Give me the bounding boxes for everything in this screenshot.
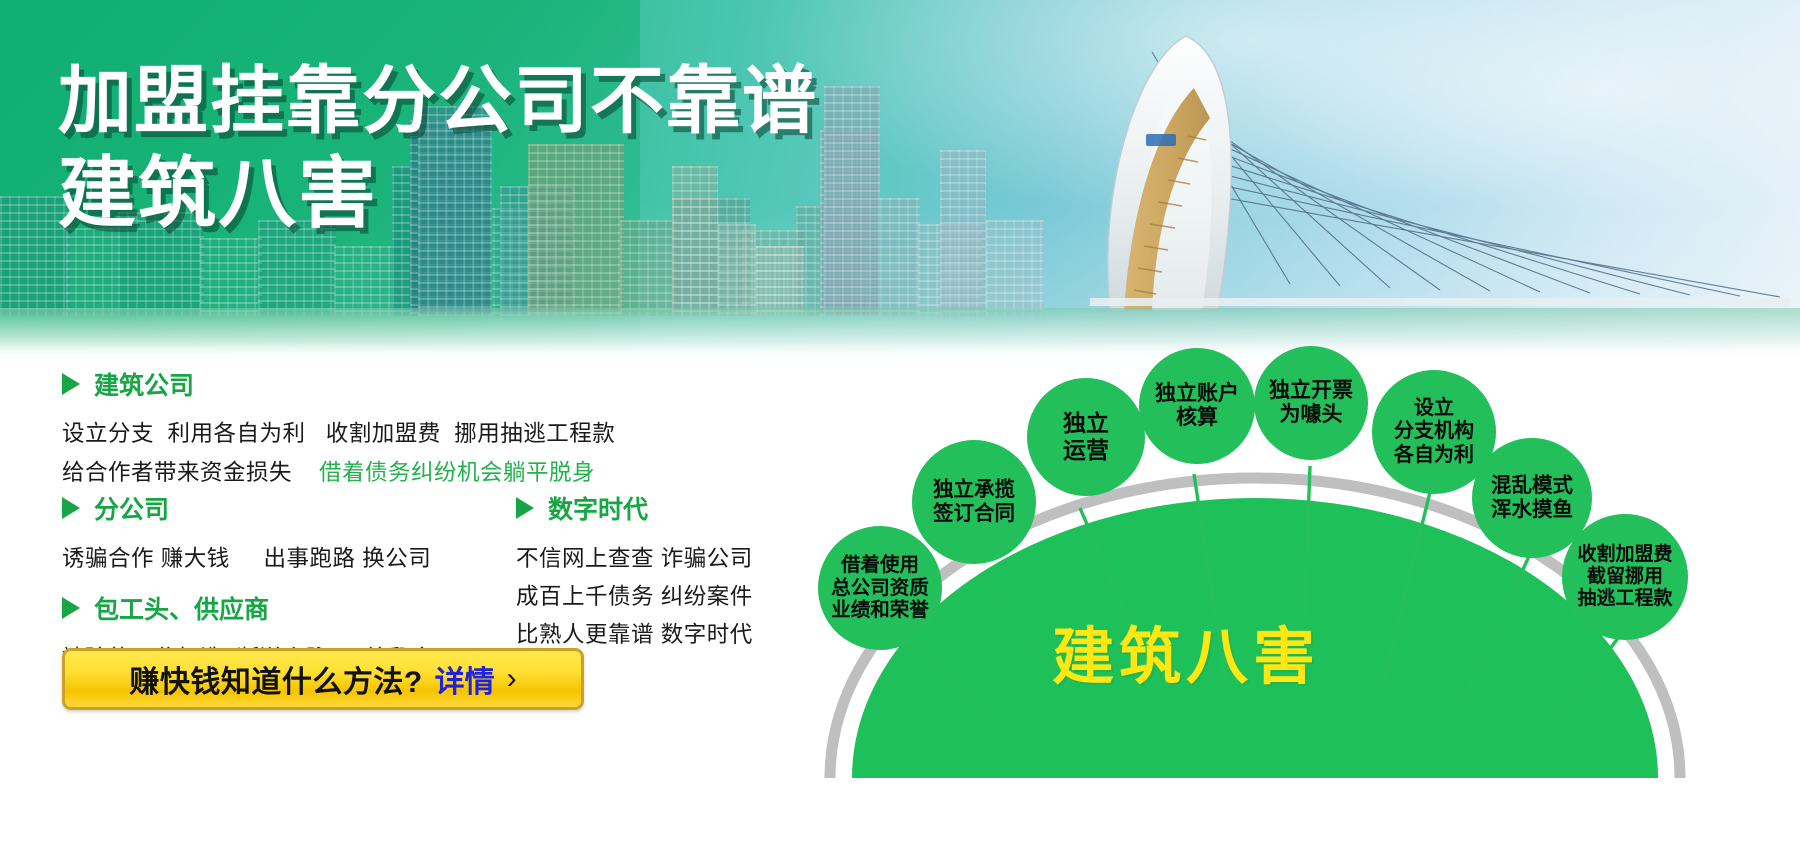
cta-button[interactable]: 赚快钱知道什么方法? 详情 ›	[62, 648, 584, 710]
bubble-item[interactable]: 收割加盟费 截留挪用 抽逃工程款	[1562, 514, 1688, 640]
body-text-black: 比熟人更靠谱 数字时代	[516, 622, 753, 647]
triangle-bullet-icon	[62, 597, 80, 619]
title-line-1: 加盟挂靠分公司不靠谱	[58, 62, 818, 140]
section-heading-label: 建筑公司	[94, 366, 194, 402]
triangle-bullet-icon	[62, 497, 80, 519]
section-body: 设立分支 利用各自为利 收割加盟费 挪用抽逃工程款 给合作者带来资金损失 借着债…	[62, 416, 615, 487]
body-line: 诱骗合作 赚大钱 出事跑路 换公司	[62, 541, 431, 573]
bubble-item[interactable]: 独立 运营	[1027, 378, 1145, 496]
section-heading: 建筑公司	[62, 366, 615, 402]
body-text-black: 成百上千债务 纠纷案件	[516, 584, 753, 609]
body-text-green: 借着债务纠纷机会躺平脱身	[319, 460, 595, 485]
title-line-2: 建筑八害	[58, 152, 818, 235]
triangle-bullet-icon	[516, 497, 534, 519]
section-construction-company: 建筑公司 设立分支 利用各自为利 收割加盟费 挪用抽逃工程款 给合作者带来资金损…	[62, 366, 615, 487]
section-heading: 包工头、供应商	[62, 590, 434, 626]
section-heading-label: 分公司	[94, 490, 169, 526]
body-line: 不信网上查查 诈骗公司	[516, 541, 753, 573]
triangle-bullet-icon	[62, 373, 80, 395]
section-heading: 数字时代	[516, 490, 753, 526]
section-heading: 分公司	[62, 490, 431, 526]
body-text-black: 设立分支 利用各自为利 收割加盟费 挪用抽逃工程款	[62, 421, 615, 446]
cta-question-label: 赚快钱知道什么方法?	[129, 657, 422, 701]
body-line: 给合作者带来资金损失 借着债务纠纷机会躺平脱身	[62, 455, 615, 487]
body-text-black: 给合作者带来资金损失	[62, 460, 319, 485]
chevron-right-icon: ›	[507, 662, 517, 696]
section-body: 不信网上查查 诈骗公司 成百上千债务 纠纷案件 比熟人更靠谱 数字时代	[516, 541, 753, 649]
bubble-item[interactable]: 独立账户 核算	[1139, 348, 1255, 464]
body-text-black: 诱骗合作 赚大钱 出事跑路 换公司	[62, 546, 431, 571]
bubble-item[interactable]: 独立开票 为噱头	[1254, 346, 1368, 460]
hero-banner: 加盟挂靠分公司不靠谱 建筑八害	[0, 0, 1800, 368]
body-line: 比熟人更靠谱 数字时代	[516, 617, 753, 649]
bridge-illustration	[1090, 22, 1790, 322]
body-line: 成百上千债务 纠纷案件	[516, 579, 753, 611]
section-heading-label: 包工头、供应商	[94, 590, 269, 626]
cta-details-link[interactable]: 详情	[435, 657, 495, 701]
page-title: 加盟挂靠分公司不靠谱 建筑八害	[58, 62, 818, 235]
section-heading-label: 数字时代	[548, 490, 648, 526]
section-branch-company: 分公司 诱骗合作 赚大钱 出事跑路 换公司	[62, 490, 431, 573]
body-line: 设立分支 利用各自为利 收割加盟费 挪用抽逃工程款	[62, 416, 615, 448]
bubble-item[interactable]: 借着使用 总公司资质 业绩和荣誉	[818, 526, 942, 650]
bubble-item[interactable]: 独立承揽 签订合同	[912, 440, 1036, 564]
bahai-diagram: 建筑八害 借着使用 总公司资质 业绩和荣誉 独立承揽 签订合同 独立 运营 独立…	[790, 338, 1800, 844]
content-left-column: 建筑公司 设立分支 利用各自为利 收割加盟费 挪用抽逃工程款 给合作者带来资金损…	[0, 372, 790, 844]
dome-center-label: 建筑八害	[1052, 606, 1320, 696]
body-text-black: 不信网上查查 诈骗公司	[516, 546, 753, 571]
section-body: 诱骗合作 赚大钱 出事跑路 换公司	[62, 541, 431, 573]
section-digital-era: 数字时代 不信网上查查 诈骗公司 成百上千债务 纠纷案件 比熟人更靠谱 数字时代	[516, 490, 753, 649]
